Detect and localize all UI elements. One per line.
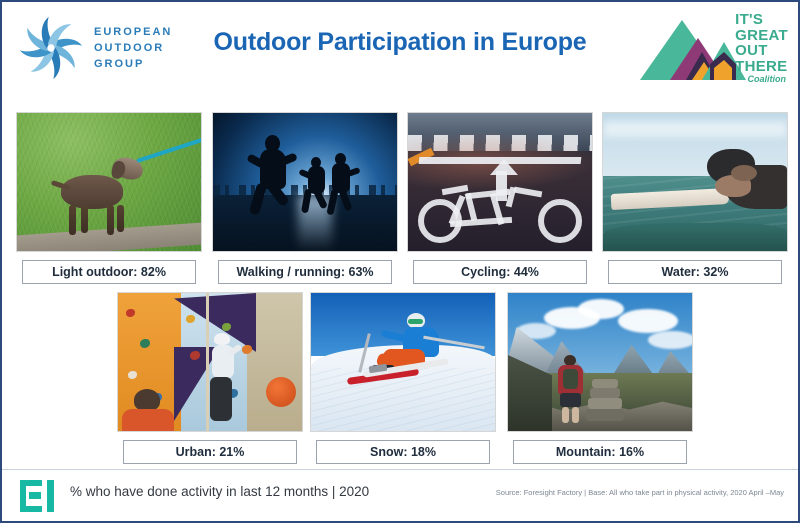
- activity-label-cycling: Cycling: 44%: [413, 260, 587, 284]
- igot-line-1: IT'S: [735, 12, 788, 28]
- activity-label-urban: Urban: 21%: [123, 440, 297, 464]
- activity-card-mountain[interactable]: Mountain: 16%: [507, 292, 693, 464]
- activity-label-snow: Snow: 18%: [316, 440, 490, 464]
- activity-card-water[interactable]: Water: 32%: [602, 112, 788, 284]
- igot-line-2: GREAT: [735, 28, 788, 44]
- activity-label-walking-running: Walking / running: 63%: [218, 260, 392, 284]
- igot-line-4: THERE: [735, 59, 788, 75]
- hiker-on-ridge-photo: [507, 292, 693, 432]
- igot-line-3: OUT: [735, 43, 788, 59]
- its-great-out-there-wordmark: IT'S GREAT OUT THERE: [735, 12, 788, 74]
- activity-label-mountain: Mountain: 16%: [513, 440, 687, 464]
- slide-canvas: EUROPEAN OUTDOOR GROUP Outdoor Participa…: [0, 0, 800, 523]
- activity-label-water: Water: 32%: [608, 260, 782, 284]
- activity-card-walking-running[interactable]: Walking / running: 63%: [212, 112, 398, 284]
- activity-card-light-outdoor[interactable]: Light outdoor: 82%: [16, 112, 202, 284]
- runners-silhouette-photo: [212, 112, 398, 252]
- slide-footer: % who have done activity in last 12 mont…: [2, 469, 798, 521]
- footer-source-note: Source: Foresight Factory | Base: All wh…: [496, 488, 784, 497]
- bike-lane-marking-photo: [407, 112, 593, 252]
- indoor-climbing-wall-photo: [117, 292, 303, 432]
- eog-line-3: GROUP: [94, 56, 172, 72]
- activity-card-cycling[interactable]: Cycling: 44%: [407, 112, 593, 284]
- dog-on-leash-photo: [16, 112, 202, 252]
- surfer-in-sea-photo: [602, 112, 788, 252]
- activity-card-urban[interactable]: Urban: 21%: [117, 292, 303, 464]
- slide-header: EUROPEAN OUTDOOR GROUP Outdoor Participa…: [2, 2, 798, 95]
- footer-caption: % who have done activity in last 12 mont…: [70, 484, 369, 499]
- activity-card-snow[interactable]: Snow: 18%: [310, 292, 496, 464]
- activity-label-light-outdoor: Light outdoor: 82%: [22, 260, 196, 284]
- skier-on-slope-photo: [310, 292, 496, 432]
- foresight-factory-logo: [20, 480, 54, 512]
- coalition-subtitle: Coalition: [748, 74, 787, 84]
